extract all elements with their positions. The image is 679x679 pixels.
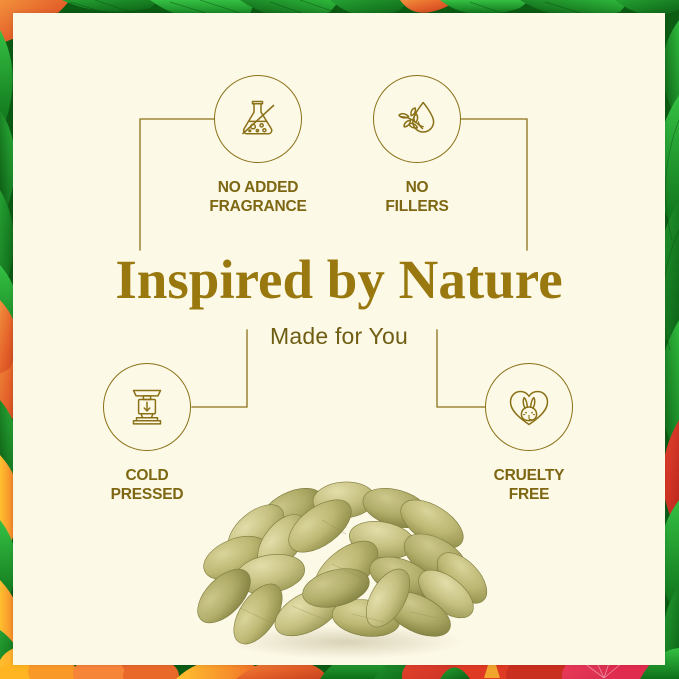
badge-label-no-added-fragrance: NO ADDED FRAGRANCE — [197, 179, 319, 217]
product-infographic-poster: NO ADDED FRAGRANCE NO F — [0, 0, 679, 679]
page-title: Inspired by Nature — [13, 252, 665, 307]
droplet-with-leaves-icon — [389, 91, 445, 147]
pumpkin-seeds-illustration — [196, 466, 496, 662]
bunny-in-heart-icon — [501, 379, 557, 435]
badge-no-added-fragrance[interactable]: NO ADDED FRAGRANCE — [197, 75, 319, 217]
badge-label-cold-pressed: COLD PRESSED — [86, 467, 208, 505]
badge-circle-cold-pressed — [103, 363, 191, 451]
badge-label-no-fillers: NO FILLERS — [356, 179, 478, 217]
badge-circle-cruelty-free — [485, 363, 573, 451]
page-subtitle: Made for You — [13, 323, 665, 350]
product-image-pumpkin-seeds — [196, 466, 496, 662]
badge-circle-no-added-fragrance — [214, 75, 302, 163]
flask-crossed-out-icon — [230, 91, 286, 147]
badge-cold-pressed[interactable]: COLD PRESSED — [86, 363, 208, 505]
headline-block: Inspired by Nature Made for You — [13, 252, 665, 350]
badge-no-fillers[interactable]: NO FILLERS — [356, 75, 478, 217]
badge-circle-no-fillers — [373, 75, 461, 163]
press-machine-icon — [119, 379, 175, 435]
